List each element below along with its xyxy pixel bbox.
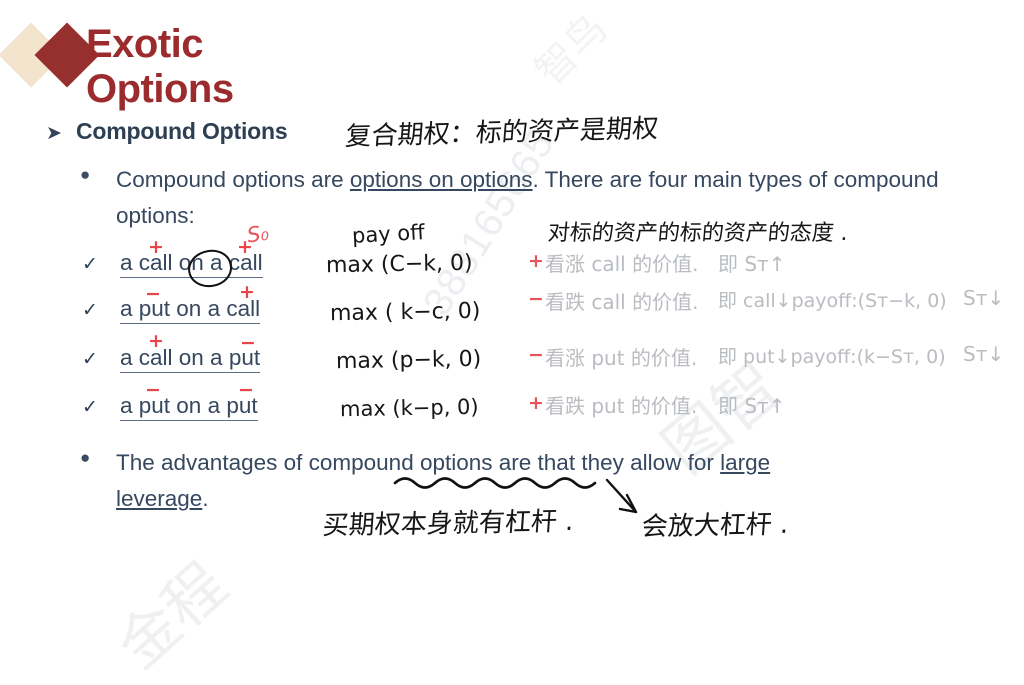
handwriting-right-text-2: 看跌 call 的价值. xyxy=(545,286,698,315)
handwriting-right-text-3: 看涨 put 的价值. xyxy=(545,342,697,371)
paragraph-1-lead: Compound options are xyxy=(116,167,350,192)
list-item-put-on-put[interactable]: ✓ a put on a put xyxy=(82,393,258,421)
handwriting-right-trend-3: Sт↓ xyxy=(963,342,1004,366)
handwriting-right-text-4: 看跌 put 的价值. xyxy=(545,390,697,419)
handwriting-right-sign-3: − xyxy=(528,344,544,366)
handwriting-right-tail-1: 即 Sт↑ xyxy=(718,248,785,277)
handwriting-heading-cn: 复合期权：标的资产是期权 xyxy=(344,108,660,153)
page-title: Exotic Options xyxy=(86,22,234,112)
list-item-call-on-call[interactable]: ✓ a call on a call xyxy=(82,250,263,278)
handwriting-right-trend-2: Sт↓ xyxy=(963,286,1004,310)
list-item-put-on-call[interactable]: ✓ a put on a call xyxy=(82,296,260,324)
link-options-on-options[interactable]: options on options xyxy=(350,167,533,192)
check-icon: ✓ xyxy=(82,396,120,419)
handwriting-right-sign-4: + xyxy=(528,392,544,414)
handwriting-right-text-1: 看涨 call 的价值. xyxy=(545,248,698,277)
dot-bullet-icon: ● xyxy=(80,445,116,518)
paragraph-2-body: The advantages of compound options are t… xyxy=(116,445,992,518)
list-item-call-on-put[interactable]: ✓ a call on a put xyxy=(82,345,260,373)
list-item-label: a call on a put xyxy=(120,345,260,373)
section-compound-options: ➤ Compound Options xyxy=(46,118,287,145)
watermark-cn-c: 智鸟 xyxy=(520,0,618,96)
list-item-label: a put on a call xyxy=(120,296,260,324)
link-leverage[interactable]: leverage xyxy=(116,486,202,511)
paragraph-1-body: Compound options are options on options.… xyxy=(116,162,984,235)
slide-canvas: 388165665 图智 金程 智鸟 Exotic Options ➤ Comp… xyxy=(0,0,1024,619)
link-large[interactable]: large xyxy=(720,450,770,475)
handwriting-right-tail-4: 即 Sт↑ xyxy=(718,390,785,419)
handwriting-right-tail-2: 即 call↓payoff:(Sт−k, 0) xyxy=(718,286,947,313)
list-item-label: a put on a put xyxy=(120,393,258,421)
paragraph-advantages: ● The advantages of compound options are… xyxy=(80,445,992,518)
paragraph-2-tail: . xyxy=(202,486,208,511)
paragraph-2-lead: The advantages of compound options are t… xyxy=(116,450,720,475)
handwriting-formula-2: max ( k−c, 0) xyxy=(330,299,481,327)
check-icon: ✓ xyxy=(82,253,120,276)
handwriting-right-sign-1: + xyxy=(528,250,544,272)
section-heading: Compound Options xyxy=(76,118,287,145)
list-item-label: a call on a call xyxy=(120,250,263,278)
watermark-cn-b: 金程 xyxy=(95,540,242,685)
handwriting-right-sign-2: − xyxy=(528,288,544,310)
handwriting-right-tail-3: 即 put↓payoff:(k−Sт, 0) xyxy=(718,342,946,369)
arrow-bullet-icon: ➤ xyxy=(46,122,76,145)
dot-bullet-icon: ● xyxy=(80,162,116,235)
handwriting-formula-4: max (k−p, 0) xyxy=(340,395,479,421)
paragraph-compound-definition: ● Compound options are options on option… xyxy=(80,162,990,235)
check-icon: ✓ xyxy=(82,299,120,322)
check-icon: ✓ xyxy=(82,348,120,371)
handwriting-formula-1: max (C−k, 0) xyxy=(326,251,473,279)
handwriting-formula-3: max (p−k, 0) xyxy=(336,347,482,375)
